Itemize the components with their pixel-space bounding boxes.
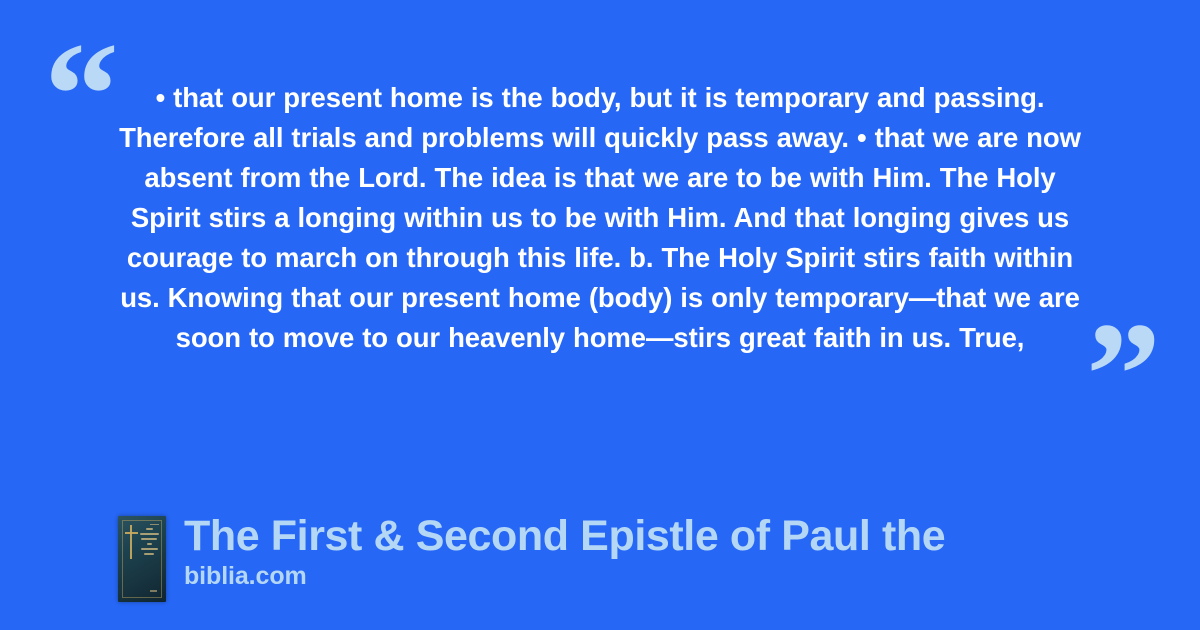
book-cover-title-line [140, 533, 159, 535]
cross-icon-vertical [130, 525, 132, 559]
book-cover-top-mark [150, 524, 159, 525]
footer-attribution: The First & Second Epistle of Paul the b… [118, 512, 945, 602]
book-cover-title-line [141, 538, 157, 540]
book-cover-title-line [147, 543, 152, 545]
footer-text-group: The First & Second Epistle of Paul the b… [184, 512, 945, 591]
quote-block: • that our present home is the body, but… [108, 78, 1092, 358]
book-cover-title-lines [138, 528, 160, 555]
book-cover-bottom-mark [150, 590, 157, 592]
quote-card: “ • that our present home is the body, b… [0, 0, 1200, 630]
book-cover-title-line [141, 548, 158, 550]
cross-icon-horizontal [125, 532, 138, 534]
book-cover-icon [118, 516, 166, 602]
book-cover-title-line [146, 528, 153, 530]
close-quote-icon: ” [1086, 300, 1159, 450]
book-cover-title-line [144, 553, 154, 555]
site-name: biblia.com [184, 562, 945, 591]
open-quote-icon: “ [44, 20, 117, 170]
quote-text: • that our present home is the body, but… [108, 78, 1092, 358]
book-title: The First & Second Epistle of Paul the [184, 512, 945, 560]
